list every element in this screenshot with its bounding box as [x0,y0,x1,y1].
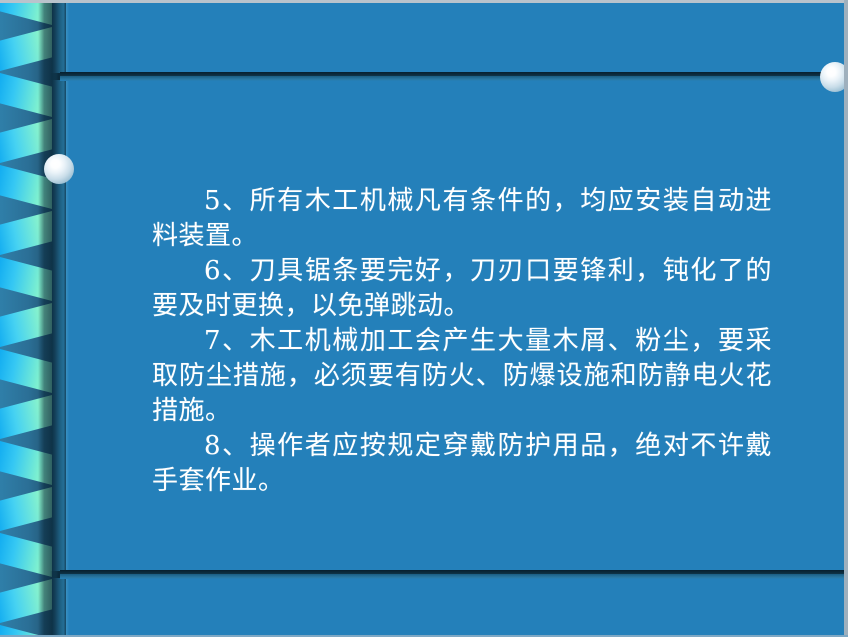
ribbon-fold [0,72,52,118]
body-paragraph-5: 5、所有木工机械凡有条件的，均应安装自动进料装置。 [152,184,772,254]
divider-bottom-highlight [60,574,848,579]
ribbon-fold [0,256,52,302]
divider-top [60,72,835,81]
ribbon-fold [0,118,52,164]
divider-top-highlight [60,76,835,81]
body-paragraph-8: 8、操作者应按规定穿戴防护用品，绝对不许戴手套作业。 [152,429,772,499]
zigzag-ribbon-band [0,0,52,637]
slide-canvas: 5、所有木工机械凡有条件的，均应安装自动进料装置。 6、刀具锯条要完好，刀刃口要… [0,0,848,637]
ribbon-fold [0,440,52,486]
divider-bottom [60,570,848,579]
ribbon-fold [0,0,52,26]
body-paragraph-7: 7、木工机械加工会产生大量木屑、粉尘，要采取防尘措施，必须要有防火、防爆设施和防… [152,324,772,429]
ribbon-fold [0,210,52,256]
ribbon-fold [0,26,52,72]
frame-edge-right [844,0,848,637]
ribbon-fold [0,348,52,394]
sphere-bullet-left [44,154,74,184]
slide-body-text: 5、所有木工机械凡有条件的，均应安装自动进料装置。 6、刀具锯条要完好，刀刃口要… [152,184,772,499]
ribbon-fold [0,486,52,532]
ribbon-fold [0,578,52,624]
ribbon-fold [0,302,52,348]
body-paragraph-6: 6、刀具锯条要完好，刀刃口要锋利，钝化了的要及时更换，以免弹跳动。 [152,254,772,324]
vertical-spine-highlight [66,0,69,637]
ribbon-fold [0,532,52,578]
frame-edge-top [0,0,848,3]
ribbon-fold [0,394,52,440]
